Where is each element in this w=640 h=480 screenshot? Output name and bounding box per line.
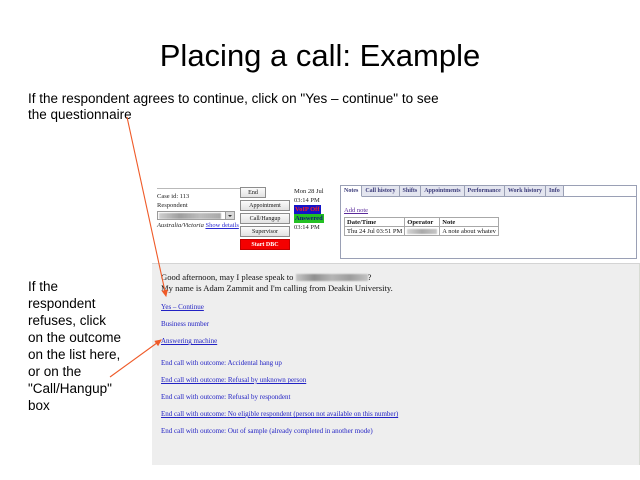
script-line-1-suffix: ? [368, 272, 372, 282]
add-note-link[interactable]: Add note [344, 207, 368, 214]
case-id-label: Case id: 113 [157, 192, 240, 201]
page-title: Placing a call: Example [0, 38, 640, 74]
respondent-select[interactable] [157, 211, 235, 220]
outcome-link-answering-machine[interactable]: Answering machine [161, 337, 217, 345]
script-line-1-text: Good afternoon, may I please speak to [161, 272, 293, 282]
chevron-down-icon[interactable] [225, 212, 234, 219]
case-info-panel: Case id: 113 Respondent Australia/Victor… [152, 183, 240, 230]
column-header-note: Note [440, 218, 499, 227]
script-line-2: My name is Adam Zammit and I'm calling f… [161, 283, 640, 294]
column-header-datetime: Date/Time [345, 218, 405, 227]
tab-info[interactable]: Info [546, 186, 564, 197]
start-dbc-button[interactable]: Start DBC [240, 239, 290, 250]
outcome-link-yes-continue[interactable]: Yes – Continue [161, 303, 204, 311]
redacted-operator-name [407, 229, 437, 234]
column-header-operator: Operator [405, 218, 440, 227]
end-button[interactable]: End [240, 187, 266, 198]
tab-notes[interactable]: Notes [341, 186, 362, 197]
outcome-link-no-eligible-respondent[interactable]: End call with outcome: No eligible respo… [161, 410, 398, 418]
detail-tab-panel: Notes Call history Shifts Appointments P… [340, 185, 637, 259]
outcome-link-refusal-by-respondent[interactable]: End call with outcome: Refusal by respon… [161, 393, 290, 401]
timezone-label: Australia/Victoria [157, 222, 204, 229]
embedded-app-screenshot: Case id: 113 Respondent Australia/Victor… [152, 183, 640, 465]
voip-status-badge[interactable]: VoIP Off [294, 205, 321, 214]
outcome-link-refusal-unknown-person[interactable]: End call with outcome: Refusal by unknow… [161, 376, 306, 384]
show-details-link[interactable]: Show details [205, 222, 238, 229]
script-line-1: Good afternoon, may I please speak to ? [161, 272, 640, 283]
app-header-region: Case id: 113 Respondent Australia/Victor… [152, 183, 640, 263]
call-hangup-button[interactable]: Call/Hangup [240, 213, 290, 224]
notes-tab-body: Add note Date/Time Operator Note Thu 24 … [341, 197, 636, 238]
status-time-2: 03:14 PM [294, 223, 338, 232]
outcome-link-accidental-hang-up[interactable]: End call with outcome: Accidental hang u… [161, 359, 282, 367]
tab-shifts[interactable]: Shifts [400, 186, 422, 197]
call-status-panel: Mon 28 Jul 03:14 PM VoIP Off Answered 03… [292, 183, 338, 232]
outcome-link-out-of-sample[interactable]: End call with outcome: Out of sample (al… [161, 427, 373, 435]
supervisor-button[interactable]: Supervisor [240, 226, 290, 237]
notes-table: Date/Time Operator Note Thu 24 Jul 03:51… [344, 217, 499, 236]
respondent-label: Respondent [157, 201, 240, 210]
cell-note: A note about whatev [440, 227, 499, 236]
table-header-row: Date/Time Operator Note [345, 218, 499, 227]
tab-work-history[interactable]: Work history [505, 186, 546, 197]
outcome-link-business-number[interactable]: Business number [161, 320, 209, 328]
call-status-badge: Answered [294, 214, 324, 223]
annotation-left-text: If the respondent refuses, click on the … [28, 278, 124, 414]
call-script-region: Good afternoon, may I please speak to ? … [152, 263, 640, 465]
table-row[interactable]: Thu 24 Jul 03:51 PM A note about whatev [345, 227, 499, 236]
tab-performance[interactable]: Performance [465, 186, 505, 197]
annotation-top-text: If the respondent agrees to continue, cl… [28, 91, 458, 123]
tab-appointments[interactable]: Appointments [421, 186, 464, 197]
panel-divider [157, 188, 243, 189]
redacted-respondent-in-script [296, 274, 368, 281]
tab-call-history[interactable]: Call history [362, 186, 399, 197]
appointment-button[interactable]: Appointment [240, 200, 290, 211]
redacted-respondent-name [159, 213, 221, 219]
status-date: Mon 28 Jul [294, 187, 338, 196]
cell-operator [405, 227, 440, 236]
tabstrip: Notes Call history Shifts Appointments P… [341, 186, 636, 197]
status-time-1: 03:14 PM [294, 196, 338, 205]
call-action-buttons: End Appointment Call/Hangup Supervisor S… [240, 183, 292, 250]
cell-datetime: Thu 24 Jul 03:51 PM [345, 227, 405, 236]
tabstrip-filler [564, 186, 636, 197]
